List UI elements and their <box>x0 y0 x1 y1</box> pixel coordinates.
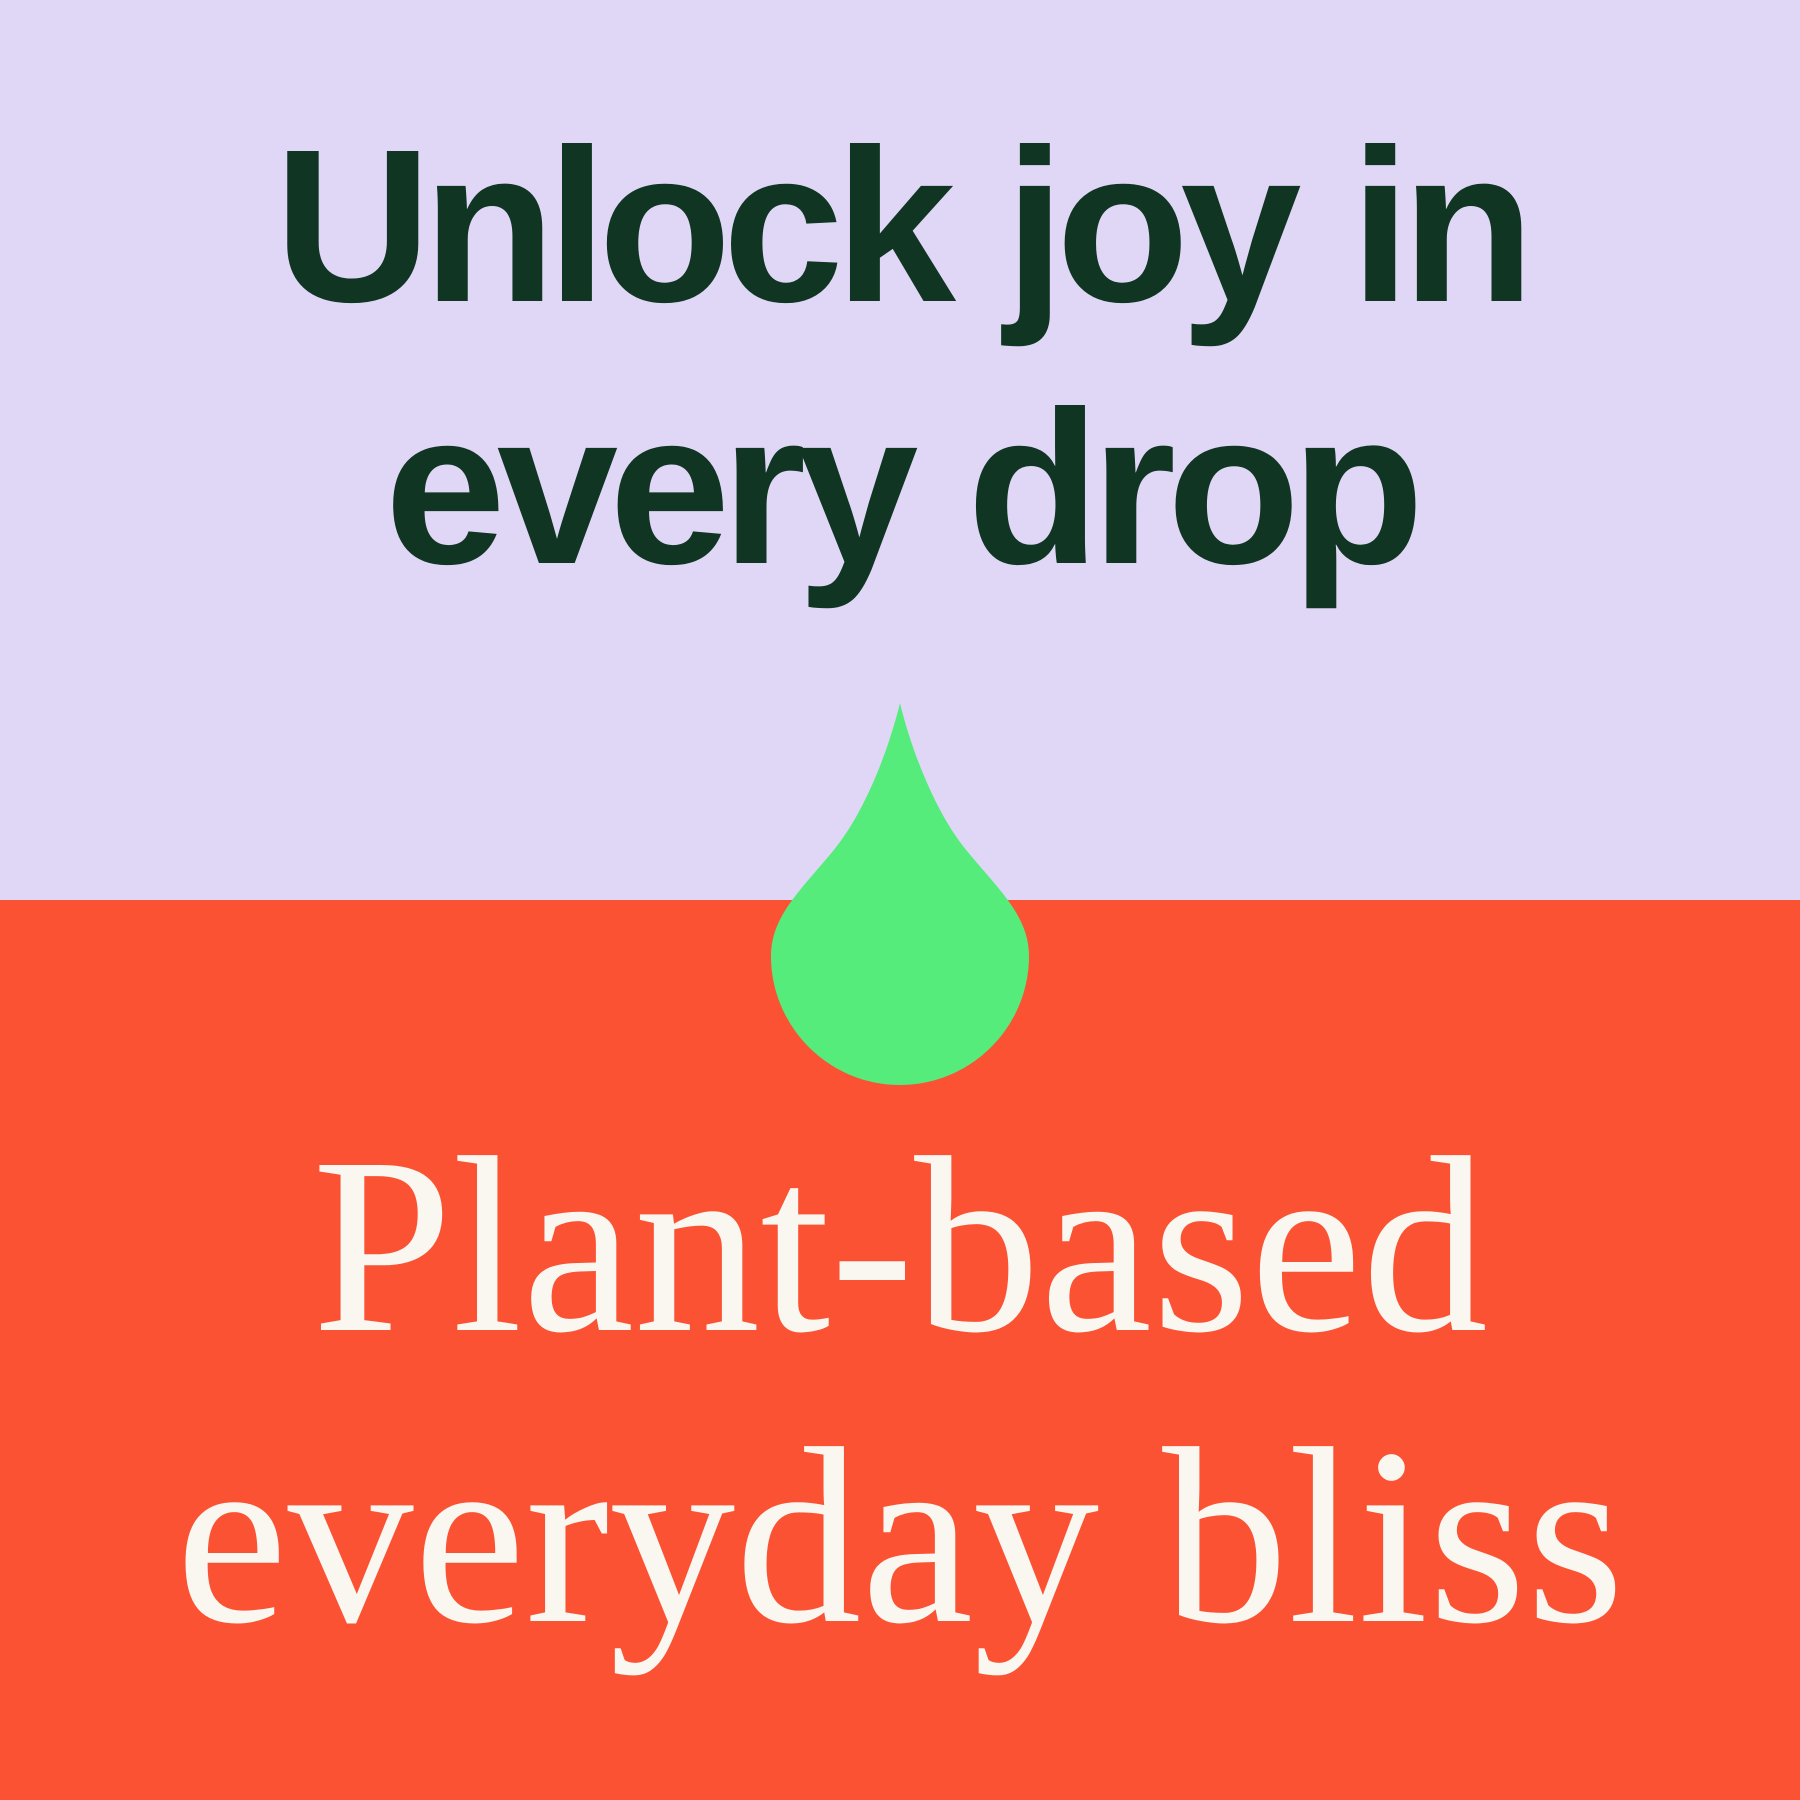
subheadline-line-1: Plant-based <box>0 1100 1800 1391</box>
promo-poster: Unlock joy in every drop Plant-based eve… <box>0 0 1800 1800</box>
subheadline-line-2: everyday bliss <box>0 1391 1800 1682</box>
water-drop-icon <box>771 703 1029 1085</box>
headline: Unlock joy in every drop <box>0 96 1800 620</box>
headline-line-2: every drop <box>0 358 1800 620</box>
headline-line-1: Unlock joy in <box>0 96 1800 358</box>
subheadline: Plant-based everyday bliss <box>0 1100 1800 1682</box>
